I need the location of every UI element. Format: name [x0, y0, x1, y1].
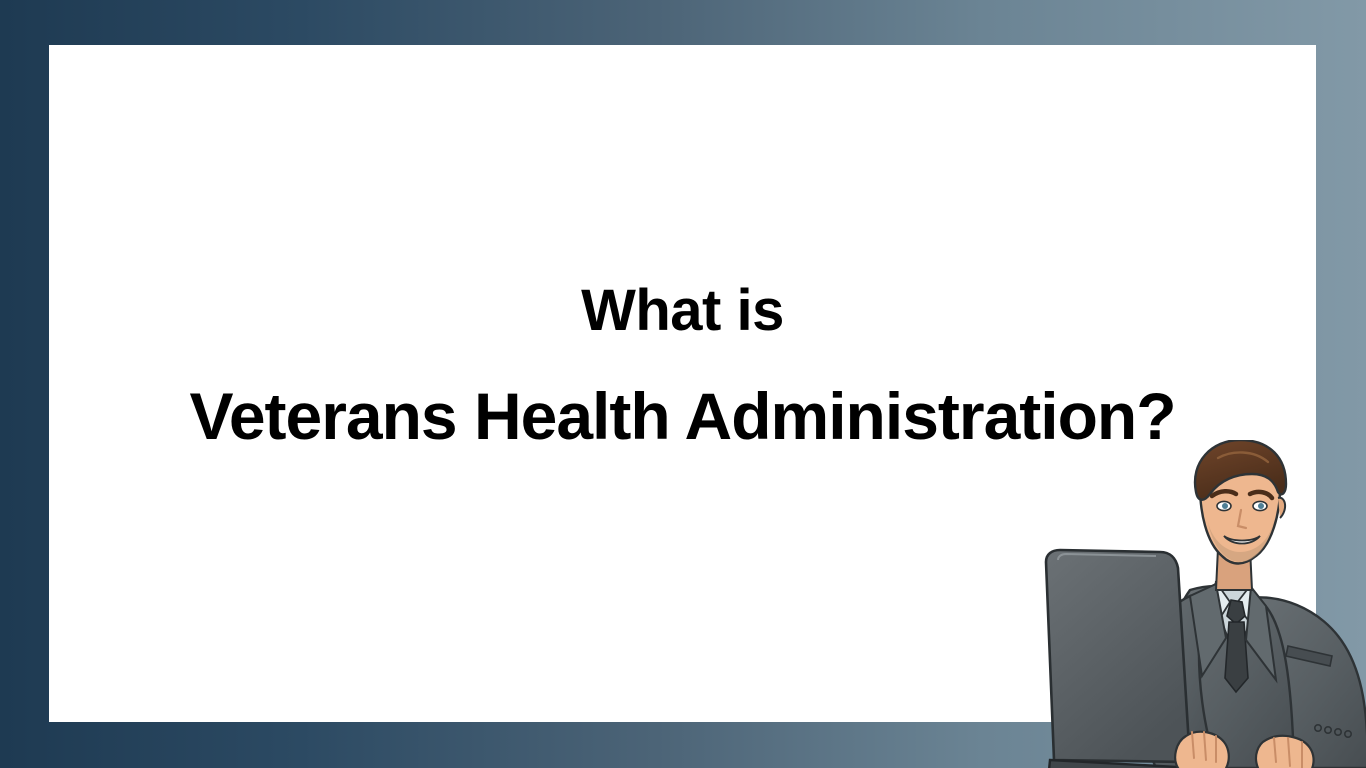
slide-canvas: What is Veterans Health Administration? — [0, 0, 1366, 768]
hand-right — [1256, 736, 1314, 768]
hand-right-fingers — [1274, 738, 1302, 768]
laptop-base — [1048, 760, 1340, 768]
content-panel: What is Veterans Health Administration? — [49, 45, 1316, 722]
page-title: What is Veterans Health Administration? — [49, 45, 1316, 452]
hand-left — [1175, 732, 1229, 768]
sleeve-buttons — [1315, 725, 1351, 737]
title-line-two: Veterans Health Administration? — [49, 381, 1316, 452]
hand-left-fingers — [1192, 732, 1216, 762]
title-line-one: What is — [49, 280, 1316, 343]
